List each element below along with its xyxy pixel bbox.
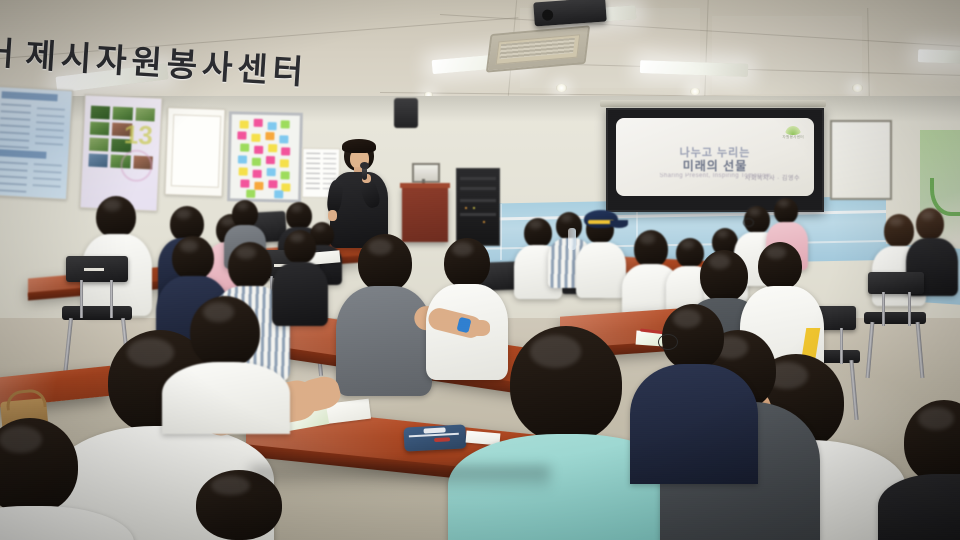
person-head	[510, 326, 622, 442]
slide-logo: 자원봉사센터	[782, 126, 804, 140]
audience-person	[286, 202, 312, 230]
notice-poster-blue	[0, 86, 73, 200]
person-head	[190, 296, 260, 368]
person-head	[284, 230, 316, 264]
screen-roller	[600, 100, 826, 107]
glasses-icon	[743, 218, 754, 227]
blank-poster	[164, 107, 225, 197]
pencil-case[interactable]	[403, 424, 466, 451]
person-head	[96, 196, 136, 238]
person-head	[884, 214, 914, 248]
audience-person	[774, 198, 798, 224]
microphone-head-icon	[360, 162, 369, 169]
person-head	[444, 238, 490, 288]
whiteboard	[830, 120, 892, 200]
person-head	[0, 418, 78, 514]
person-torso	[630, 364, 758, 484]
person-torso	[336, 286, 432, 396]
person-torso	[272, 262, 328, 326]
person-head	[774, 198, 798, 224]
audience-person	[758, 242, 802, 290]
cap-brim-icon	[610, 220, 628, 228]
leaf-logo-icon	[785, 126, 801, 135]
photo-poster: 13	[79, 94, 162, 211]
slide-credit: 사회복지사 · 김영수	[745, 173, 800, 182]
audience-person	[232, 200, 258, 228]
ceiling-light	[918, 49, 960, 64]
slide-title-line2: 미래의 선물	[616, 157, 814, 174]
water-bottle[interactable]	[568, 228, 576, 250]
av-rack	[456, 168, 500, 246]
person-head	[228, 242, 272, 290]
person-head	[358, 234, 412, 292]
person-hand	[470, 320, 490, 336]
audience-person-gray	[358, 234, 412, 292]
audience-person-white	[444, 238, 490, 288]
projection-screen: 나누고 누리는 미래의 선물 Sharing Present, Inspirin…	[606, 108, 824, 212]
presentation-slide: 나누고 누리는 미래의 선물 Sharing Present, Inspirin…	[616, 118, 814, 196]
foreground-person-glasses	[662, 304, 724, 370]
person-torso	[576, 242, 626, 298]
podium-monitor	[412, 163, 440, 183]
poster-number: 13	[123, 119, 153, 151]
presenter-hand-left	[328, 210, 337, 221]
person-torso	[162, 362, 290, 434]
presenter-hair-front	[342, 139, 376, 153]
foreground-person-bent	[190, 296, 260, 368]
classroom-photo-scene: ㅓ제시자원봉사센터 13	[0, 0, 960, 540]
foreground-person	[0, 418, 78, 514]
audience-person	[634, 230, 668, 268]
table-shadow	[250, 466, 550, 492]
person-head	[172, 236, 214, 280]
audience-person	[524, 218, 552, 248]
person-head	[700, 250, 748, 302]
sticky-note-board	[227, 111, 303, 203]
audience-person	[284, 230, 316, 264]
audience-person	[228, 242, 272, 290]
person-head	[524, 218, 552, 248]
person-head	[634, 230, 668, 268]
person-head	[904, 400, 960, 484]
slide-logo-name: 자원봉사센터	[782, 135, 804, 140]
glasses-icon	[658, 334, 678, 350]
wall-speaker-icon	[394, 98, 418, 128]
foreground-person-partial	[904, 400, 960, 484]
person-head	[758, 242, 802, 290]
audience-person	[96, 196, 136, 238]
audience-person	[916, 208, 944, 240]
person-head	[916, 208, 944, 240]
audience-person	[884, 214, 914, 248]
downlight	[852, 84, 863, 92]
downlight	[690, 88, 700, 95]
downlight	[556, 84, 567, 92]
audience-person	[172, 236, 214, 280]
audience-person	[744, 206, 770, 234]
person-head	[286, 202, 312, 230]
audience-person	[700, 250, 748, 302]
chair[interactable]	[862, 272, 932, 382]
wainscot-seam	[500, 204, 502, 260]
foreground-person-mint	[510, 326, 622, 442]
audience-person-with-cap	[586, 214, 614, 244]
person-head	[232, 200, 258, 228]
